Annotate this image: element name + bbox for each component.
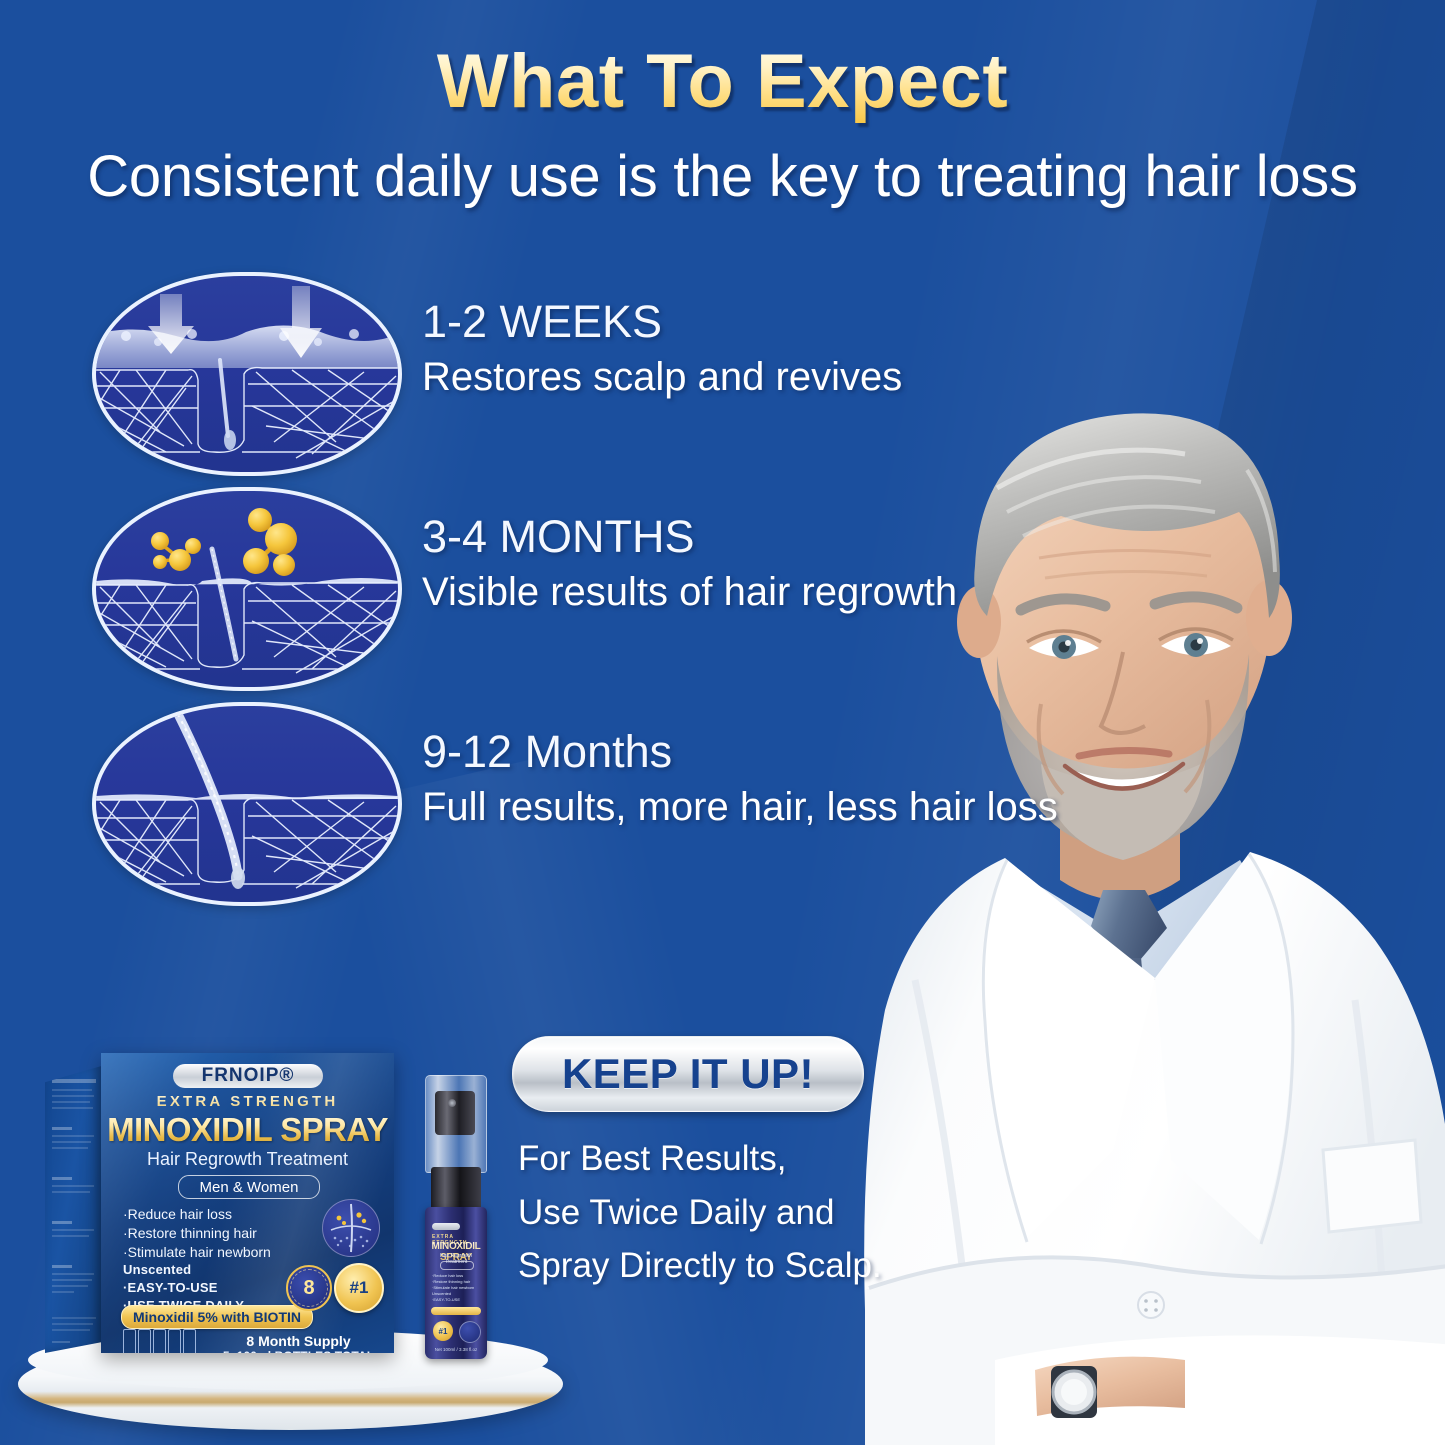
timeline-stage-2: 3-4 MONTHS Visible results of hair regro… [92,487,1092,687]
brand-badge: FRNOIP® [173,1064,323,1088]
box-strength-line: EXTRA STRENGTH [101,1093,394,1110]
page-title: What To Expect [0,38,1445,125]
box-product-name: MINOXIDIL SPRAY [101,1111,394,1149]
stage-1-text: 1-2 WEEKS Restores scalp and revives [422,298,1082,399]
box-benefit-2: ·Restore thinning hair [123,1224,271,1243]
advice-line-2: Use Twice Daily and [518,1186,1078,1240]
box-ingredient-label: Minoxidil 5% with BIOTIN [133,1309,301,1325]
bottle-benefit-5: ·EASY-TO-USE [432,1297,474,1303]
advice-line-1: For Best Results, [518,1132,1078,1186]
stage-3-description: Full results, more hair, less hair loss [422,785,1082,829]
bottle-brand-badge [432,1223,460,1230]
box-rank-badge: #1 [334,1263,384,1313]
bottle-ingredient-badge [431,1307,481,1315]
box-audience-badge: Men & Women [178,1175,320,1199]
bottle-volume-text: Net 100ml / 3.38 fl.oz [429,1347,483,1352]
box-rank-label: #1 [350,1278,369,1298]
stage-3-text: 9-12 Months Full results, more hair, les… [422,728,1082,829]
timeline-stage-1: 1-2 WEEKS Restores scalp and revives [92,272,1092,472]
bottle-body-label: EXTRA STRENGTH MINOXIDIL SPRAY Hair Regr… [425,1207,487,1359]
bottle-supply-seal [459,1321,481,1343]
stage-2-text: 3-4 MONTHS Visible results of hair regro… [422,513,1082,614]
box-supply-text: 8 Month Supply 5×100ml BOTTLES TOTAL 16.… [211,1333,386,1353]
product-box: FRNOIP® EXTRA STRENGTH MINOXIDIL SPRAY H… [45,1053,395,1353]
box-supply-line-2: 5×100ml BOTTLES TOTAL 16.9 OZ [211,1349,386,1353]
box-benefit-list: ·Reduce hair loss ·Restore thinning hair… [123,1205,271,1263]
scalp-absorption-arrows-icon [92,272,402,476]
timeline-stage-3: 9-12 Months Full results, more hair, les… [92,702,1092,902]
bottle-neck [431,1167,481,1211]
stage-1-period: 1-2 WEEKS [422,298,1082,347]
stage-2-period: 3-4 MONTHS [422,513,1082,562]
page-subtitle: Consistent daily use is the key to treat… [0,143,1445,210]
box-feature-1: Unscented [123,1261,244,1279]
bottle-pump-head [435,1091,475,1135]
infographic-canvas: What To Expect Consistent daily use is t… [0,0,1445,1445]
box-supply-line-1: 8 Month Supply [211,1333,386,1349]
product-box-front-panel: FRNOIP® EXTRA STRENGTH MINOXIDIL SPRAY H… [101,1053,394,1353]
box-scalp-diagram-icon [322,1199,380,1257]
usage-advice: For Best Results, Use Twice Daily and Sp… [518,1132,1078,1293]
stage-2-description: Visible results of hair regrowth [422,570,1082,614]
bottle-rank-badge: #1 [433,1321,453,1341]
box-benefit-1: ·Reduce hair loss [123,1205,271,1224]
brand-name: FRNOIP® [202,1065,295,1087]
advice-line-3: Spray Directly to Scalp. [518,1239,1078,1293]
scalp-full-hair-icon [92,702,402,906]
box-tagline: Hair Regrowth Treatment [101,1149,394,1170]
spray-bottle: EXTRA STRENGTH MINOXIDIL SPRAY Hair Regr… [417,1075,495,1360]
bottle-rank-label: #1 [439,1327,448,1336]
box-feature-2: ·EASY-TO-USE [123,1279,244,1297]
box-supply-seal: 8 [286,1265,332,1311]
stage-1-description: Restores scalp and revives [422,355,1082,399]
keep-it-up-badge: KEEP IT UP! [512,1036,864,1112]
keep-it-up-label: KEEP IT UP! [562,1050,814,1098]
box-audience-label: Men & Women [200,1179,299,1196]
bottle-benefit-list: ·Reduce hair loss ·Restore thinning hair… [432,1273,474,1303]
bottle-audience-badge [440,1261,474,1270]
product-box-side-panel [45,1065,105,1353]
stage-3-period: 9-12 Months [422,728,1082,777]
box-bottles-icon [123,1329,196,1353]
scalp-molecules-follicle-icon [92,487,402,691]
box-ingredient-badge: Minoxidil 5% with BIOTIN [121,1305,313,1329]
box-benefit-3: ·Stimulate hair newborn [123,1243,271,1262]
